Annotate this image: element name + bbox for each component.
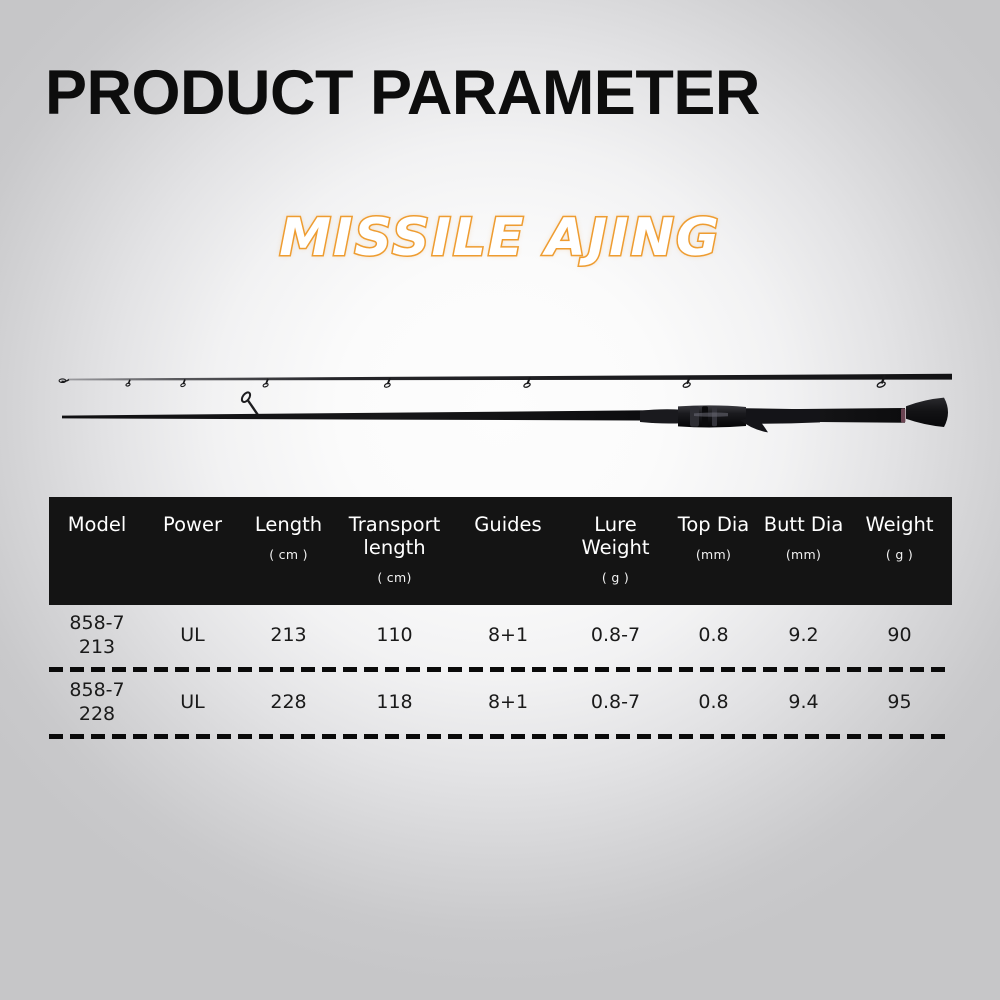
cell-transport-length: 110: [337, 624, 452, 648]
cell-guides: 8+1: [452, 624, 564, 648]
cell-weight: 95: [847, 691, 952, 715]
table-row: 858-7 213 UL 213 110 8+1 0.8-7 0.8 9.2 9…: [49, 605, 952, 667]
column-header-power: Power: [145, 514, 240, 548]
page-title: PRODUCT PARAMETER: [45, 62, 760, 125]
cell-top-dia: 0.8: [667, 624, 760, 648]
column-header-weight: Weight ( g ): [847, 514, 952, 562]
tip-top-guide: [59, 379, 69, 383]
specification-table: Model Power Length ( cm ) Transport leng…: [49, 497, 952, 739]
table-header-row: Model Power Length ( cm ) Transport leng…: [49, 497, 952, 605]
cell-model: 858-7 228: [49, 679, 145, 726]
cell-length: 228: [240, 691, 337, 715]
column-header-guides: Guides: [452, 514, 564, 548]
rod-tip-section: [59, 374, 952, 388]
cell-power: UL: [145, 624, 240, 648]
product-image-fishing-rod: [0, 340, 1000, 460]
brand-logo: MISSILE AJING: [0, 212, 1000, 264]
column-header-top-dia: Top Dia (mm): [667, 514, 760, 562]
cell-model: 858-7 213: [49, 612, 145, 659]
column-header-transport-length: Transport length ( cm): [337, 514, 452, 585]
cell-top-dia: 0.8: [667, 691, 760, 715]
stripper-guide: [240, 391, 258, 415]
cell-power: UL: [145, 691, 240, 715]
cell-length: 213: [240, 624, 337, 648]
cell-lure-weight: 0.8-7: [564, 691, 667, 715]
cell-guides: 8+1: [452, 691, 564, 715]
rod-butt-section: [62, 391, 948, 432]
cell-weight: 90: [847, 624, 952, 648]
row-divider: [49, 734, 952, 739]
cell-lure-weight: 0.8-7: [564, 624, 667, 648]
cell-butt-dia: 9.2: [760, 624, 847, 648]
column-header-length: Length ( cm ): [240, 514, 337, 562]
cell-butt-dia: 9.4: [760, 691, 847, 715]
product-parameter-page: PRODUCT PARAMETER MISSILE AJING: [0, 0, 1000, 1000]
column-header-lure-weight: Lure Weight ( g ): [564, 514, 667, 585]
cell-transport-length: 118: [337, 691, 452, 715]
column-header-model: Model: [49, 514, 145, 548]
column-header-butt-dia: Butt Dia (mm): [760, 514, 847, 562]
table-row: 858-7 228 UL 228 118 8+1 0.8-7 0.8 9.4 9…: [49, 672, 952, 734]
